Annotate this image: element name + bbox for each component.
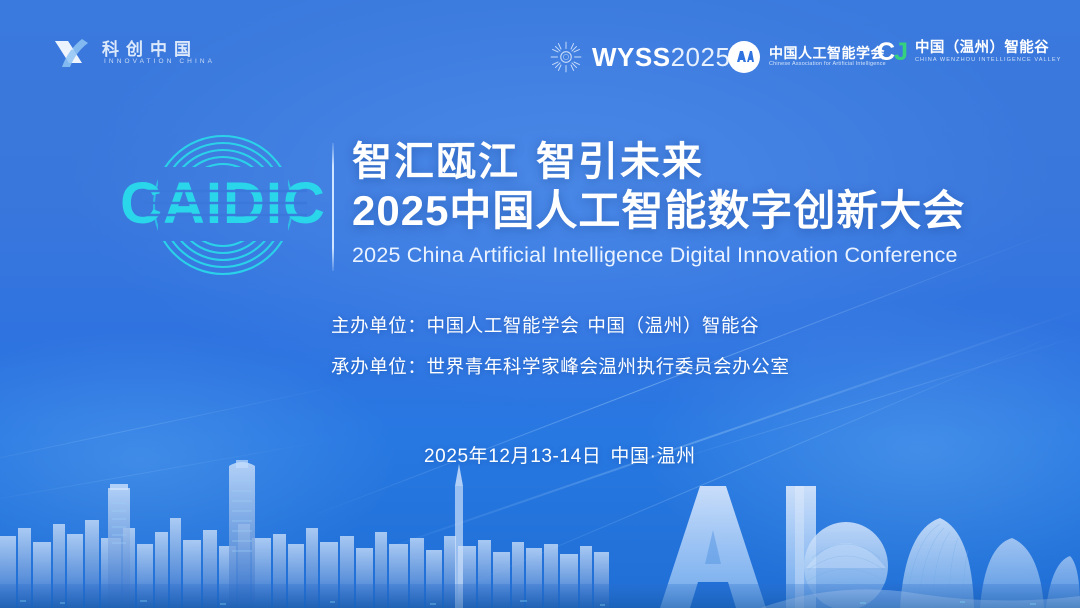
caidic-logo-icon: CAIDIC (112, 133, 334, 278)
title-divider (332, 143, 334, 271)
organizer-label: 承办单位： (331, 356, 427, 377)
wyss-name: WYSS (592, 42, 671, 72)
caai-en: Chinese Association for Artificial Intel… (769, 62, 886, 67)
organizer-row: 承办单位：世界青年科学家峰会温州执行委员会办公室 (331, 358, 789, 377)
logo-bar: 科创中国 INNOVATION CHINA (0, 0, 1080, 100)
logo-wenzhou-valley: CJ 中国（温州）智能谷 CHINA WENZHOU INTELLIGENCE … (877, 40, 1061, 65)
slogan-part-b: 智引未来 (536, 140, 704, 184)
wenzhou-valley-text: 中国（温州）智能谷 CHINA WENZHOU INTELLIGENCE VAL… (915, 41, 1061, 63)
caai-text: 中国人工智能学会 Chinese Association for Artific… (769, 46, 886, 67)
conference-title-en: 2025 China Artificial Intelligence Digit… (352, 242, 1032, 270)
slogan-part-a: 智汇瓯江 (352, 140, 520, 184)
wenzhou-valley-cn: 中国（温州）智能谷 (915, 41, 1061, 56)
organizer-value-a: 中国人工智能学会 (427, 315, 580, 336)
organizer-row: 主办单位：中国人工智能学会中国（温州）智能谷 (331, 317, 789, 336)
organizer-value-a: 世界青年科学家峰会温州执行委员会办公室 (427, 356, 790, 377)
logo-innovation-china: 科创中国 INNOVATION CHINA (52, 36, 215, 70)
caai-cn: 中国人工智能学会 (769, 46, 886, 60)
wyss-wordmark: WYSS2025 (592, 44, 730, 70)
wenzhou-valley-en: CHINA WENZHOU INTELLIGENCE VALLEY (915, 58, 1061, 64)
organizer-value-b: 中国（温州）智能谷 (587, 315, 759, 336)
innovation-china-text: 科创中国 INNOVATION CHINA (102, 41, 215, 66)
skyline-icon (0, 458, 1080, 608)
conference-poster: 科创中国 INNOVATION CHINA (0, 0, 1080, 608)
innovation-china-mark-icon (52, 36, 92, 70)
logo-caai: 中国人工智能学会 Chinese Association for Artific… (727, 40, 886, 74)
innovation-china-cn: 科创中国 (102, 41, 215, 58)
organizer-block: 主办单位：中国人工智能学会中国（温州）智能谷 承办单位：世界青年科学家峰会温州执… (331, 317, 789, 398)
wyss-year: 2025 (671, 42, 731, 72)
caidic-emblem: CAIDIC (112, 133, 334, 278)
logo-wyss: WYSS2025 (549, 40, 730, 74)
caai-badge-icon (727, 40, 761, 74)
slogan-line: 智汇瓯江智引未来 (352, 140, 1032, 185)
cityscape-illustration (0, 458, 1080, 608)
cj-letter-c: C (877, 38, 894, 66)
sunburst-icon (549, 40, 583, 74)
organizer-label: 主办单位： (331, 315, 427, 336)
innovation-china-en: INNOVATION CHINA (102, 59, 215, 66)
cj-letter-j: J (894, 38, 907, 66)
title-block: 智汇瓯江智引未来 2025中国人工智能数字创新大会 2025 China Art… (352, 140, 1032, 270)
conference-title-cn: 2025中国人工智能数字创新大会 (352, 187, 1032, 235)
cj-mark-icon: CJ (877, 40, 907, 65)
